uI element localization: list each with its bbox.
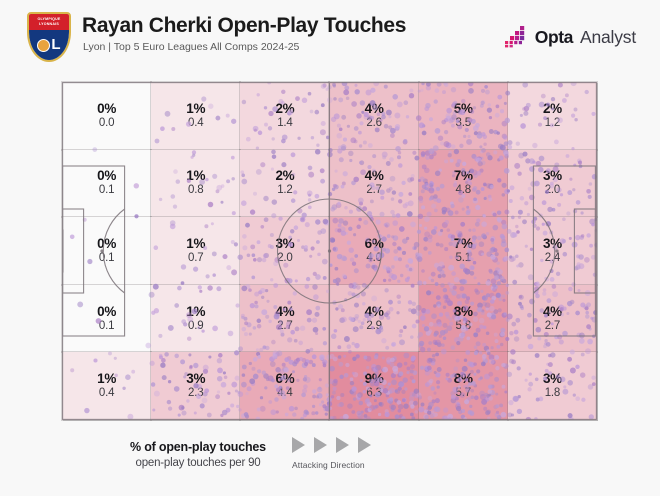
brand-suffix: Analyst xyxy=(580,27,636,48)
heatmap-cell: 8%5.7 xyxy=(419,352,508,420)
direction-arrow-icon xyxy=(314,437,327,453)
cell-percentage: 4% xyxy=(329,168,418,183)
heatmap-cell: 0%0.1 xyxy=(62,217,151,285)
cell-per90: 2.3 xyxy=(151,386,240,400)
heatmap-cell: 9%6.3 xyxy=(329,352,418,420)
cell-per90: 0.7 xyxy=(151,251,240,265)
cell-percentage: 2% xyxy=(240,101,329,116)
header: OLYMPIQUE LYONNAIS L Rayan Cherki Open-P… xyxy=(0,0,660,70)
cell-per90: 5.8 xyxy=(419,319,508,333)
cell-percentage: 4% xyxy=(329,101,418,116)
cell-per90: 1.4 xyxy=(240,116,329,130)
cell-per90: 5.1 xyxy=(419,251,508,265)
cell-percentage: 3% xyxy=(240,236,329,251)
heatmap-cell: 0%0.1 xyxy=(62,285,151,353)
heatmap-cell: 6%4.0 xyxy=(329,217,418,285)
cell-percentage: 4% xyxy=(240,304,329,319)
heatmap-cell: 1%0.8 xyxy=(151,150,240,218)
cell-percentage: 4% xyxy=(508,304,597,319)
cell-percentage: 3% xyxy=(151,371,240,386)
cell-percentage: 7% xyxy=(419,168,508,183)
heatmap-cell: 1%0.4 xyxy=(62,352,151,420)
heatmap-cell: 4%2.7 xyxy=(329,150,418,218)
cell-percentage: 1% xyxy=(151,101,240,116)
cell-per90: 1.2 xyxy=(508,116,597,130)
opta-pixel-mark-icon xyxy=(504,26,528,48)
cell-per90: 1.2 xyxy=(240,183,329,197)
touch-heatmap-graphic: OLYMPIQUE LYONNAIS L Rayan Cherki Open-P… xyxy=(0,0,660,496)
cell-percentage: 2% xyxy=(508,101,597,116)
cell-percentage: 9% xyxy=(329,371,418,386)
heatmap-grid: 0%0.01%0.42%1.44%2.65%3.52%1.20%0.11%0.8… xyxy=(62,82,597,420)
cell-percentage: 1% xyxy=(62,371,151,386)
opta-analyst-logo: Opta Analyst xyxy=(504,24,636,50)
crest-letter: L xyxy=(51,38,60,52)
heatmap-cell: 3%2.0 xyxy=(508,150,597,218)
heatmap-cell: 1%0.7 xyxy=(151,217,240,285)
cell-percentage: 3% xyxy=(508,236,597,251)
heatmap-cell: 3%2.0 xyxy=(240,217,329,285)
heatmap-cell: 7%4.8 xyxy=(419,150,508,218)
cell-per90: 2.7 xyxy=(329,183,418,197)
cell-percentage: 0% xyxy=(62,101,151,116)
cell-percentage: 8% xyxy=(419,304,508,319)
cell-percentage: 1% xyxy=(151,168,240,183)
cell-per90: 6.3 xyxy=(329,386,418,400)
cell-percentage: 2% xyxy=(240,168,329,183)
cell-percentage: 1% xyxy=(151,236,240,251)
heatmap-cell: 8%5.8 xyxy=(419,285,508,353)
cell-percentage: 5% xyxy=(419,101,508,116)
direction-arrows xyxy=(292,437,452,453)
brand-name: Opta xyxy=(535,27,573,48)
heatmap-cell: 2%1.4 xyxy=(240,82,329,150)
heatmap-cell: 1%0.4 xyxy=(151,82,240,150)
cell-per90: 0.1 xyxy=(62,183,151,197)
cell-per90: 0.0 xyxy=(62,116,151,130)
cell-per90: 0.1 xyxy=(62,251,151,265)
heatmap-cell: 3%2.4 xyxy=(508,217,597,285)
club-crest-icon: OLYMPIQUE LYONNAIS L xyxy=(27,12,71,62)
heatmap-cell: 2%1.2 xyxy=(240,150,329,218)
cell-percentage: 1% xyxy=(151,304,240,319)
direction-arrow-icon xyxy=(336,437,349,453)
cell-per90: 0.4 xyxy=(151,116,240,130)
heatmap-cell: 6%4.4 xyxy=(240,352,329,420)
cell-per90: 1.8 xyxy=(508,386,597,400)
cell-percentage: 3% xyxy=(508,371,597,386)
cell-per90: 2.4 xyxy=(508,251,597,265)
direction-label: Attacking Direction xyxy=(292,460,452,470)
cell-per90: 2.0 xyxy=(240,251,329,265)
page-title: Rayan Cherki Open-Play Touches xyxy=(82,14,406,38)
cell-percentage: 4% xyxy=(329,304,418,319)
cell-per90: 2.7 xyxy=(508,319,597,333)
cell-per90: 4.4 xyxy=(240,386,329,400)
cell-per90: 4.0 xyxy=(329,251,418,265)
cell-per90: 4.8 xyxy=(419,183,508,197)
cell-percentage: 8% xyxy=(419,371,508,386)
cell-per90: 2.6 xyxy=(329,116,418,130)
cell-percentage: 0% xyxy=(62,236,151,251)
heatmap-cell: 4%2.6 xyxy=(329,82,418,150)
cell-per90: 3.5 xyxy=(419,116,508,130)
heatmap-cell: 7%5.1 xyxy=(419,217,508,285)
heatmap-cell: 0%0.1 xyxy=(62,150,151,218)
heatmap-cell: 2%1.2 xyxy=(508,82,597,150)
cell-per90: 5.7 xyxy=(419,386,508,400)
cell-percentage: 7% xyxy=(419,236,508,251)
pitch-heatmap: 0%0.01%0.42%1.44%2.65%3.52%1.20%0.11%0.8… xyxy=(62,82,597,420)
crest-lion-roundel xyxy=(37,39,50,52)
heatmap-cell: 3%1.8 xyxy=(508,352,597,420)
legend-primary-label: % of open-play touches xyxy=(98,440,298,454)
heatmap-cell: 4%2.7 xyxy=(240,285,329,353)
cell-per90: 0.9 xyxy=(151,319,240,333)
page-subtitle: Lyon | Top 5 Euro Leagues All Comps 2024… xyxy=(83,41,299,53)
cell-per90: 2.0 xyxy=(508,183,597,197)
direction-arrow-icon xyxy=(358,437,371,453)
heatmap-cell: 0%0.0 xyxy=(62,82,151,150)
heatmap-cell: 4%2.9 xyxy=(329,285,418,353)
heatmap-cell: 3%2.3 xyxy=(151,352,240,420)
heatmap-cell: 1%0.9 xyxy=(151,285,240,353)
cell-per90: 2.7 xyxy=(240,319,329,333)
cell-percentage: 6% xyxy=(329,236,418,251)
heatmap-cell: 4%2.7 xyxy=(508,285,597,353)
cell-per90: 0.1 xyxy=(62,319,151,333)
direction-arrow-icon xyxy=(292,437,305,453)
legend-secondary-label: open-play touches per 90 xyxy=(98,457,298,469)
crest-line-2: LYONNAIS xyxy=(39,22,59,27)
cell-per90: 0.8 xyxy=(151,183,240,197)
heatmap-cell: 5%3.5 xyxy=(419,82,508,150)
cell-percentage: 0% xyxy=(62,304,151,319)
cell-percentage: 0% xyxy=(62,168,151,183)
legend: % of open-play touches open-play touches… xyxy=(98,440,298,469)
cell-per90: 0.4 xyxy=(62,386,151,400)
attacking-direction: Attacking Direction xyxy=(292,437,452,470)
cell-per90: 2.9 xyxy=(329,319,418,333)
cell-percentage: 6% xyxy=(240,371,329,386)
cell-percentage: 3% xyxy=(508,168,597,183)
